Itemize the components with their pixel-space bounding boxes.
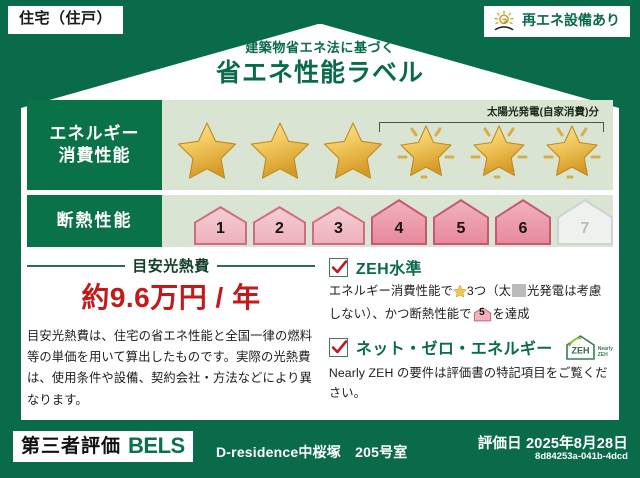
- zeh-standard-title: ZEH水準: [356, 255, 422, 279]
- zeh-logo-sub-line2: ZEH: [598, 352, 608, 358]
- sun-icon: [492, 10, 516, 32]
- svg-text:ZEH: ZEH: [571, 345, 589, 355]
- insulation-level-5: 5: [431, 195, 491, 247]
- inline-chip-label: 5: [473, 305, 492, 321]
- energy-performance-label: 住宅（住戸） 再エネ設備あり 建築物省エネ法に基づく 省エネ性: [0, 0, 640, 478]
- zeh-column: ZEH水準 エネルギー消費性能で3つ（太光発電は考慮しない）、かつ断熱性能で5を…: [321, 253, 613, 413]
- lower-section: 目安光熱費 約9.6万円 / 年 目安光熱費は、住宅の省エネ性能と全国一律の燃料…: [27, 253, 613, 413]
- insulation-performance-key: 断熱性能: [27, 195, 162, 247]
- energy-performance-row: エネルギー 消費性能 太陽光発電(自家消費)分: [27, 100, 613, 190]
- inline-star-icon: [453, 284, 467, 305]
- star-5-solar: [462, 114, 535, 186]
- utility-cost-title: 目安光熱費: [132, 255, 210, 276]
- insulation-performance-row: 断熱性能: [27, 195, 613, 247]
- star-4-solar: [389, 114, 462, 186]
- rule-left: [27, 265, 125, 267]
- energy-performance-value: 太陽光発電(自家消費)分: [162, 100, 613, 190]
- insulation-level-2-label: 2: [251, 220, 308, 238]
- net-zero-energy-body: Nearly ZEH の要件は評価書の特記項目をご覧ください。: [329, 364, 613, 404]
- energy-key-line1: エネルギー: [50, 123, 140, 145]
- zeh-standard-header: ZEH水準: [329, 255, 613, 279]
- inline-insulation-chip: 5: [473, 306, 492, 322]
- zeh-body-part1: エネルギー消費性能で: [329, 284, 453, 298]
- rule-right: [217, 265, 315, 267]
- insulation-level-3: 3: [310, 201, 367, 247]
- utility-cost-amount: 約9.6万円 / 年: [27, 282, 315, 314]
- zeh-logo-icon: ZEH Nearly ZEH: [565, 334, 613, 361]
- zeh-body-part2: 3つ（太: [467, 284, 511, 298]
- insulation-level-3-label: 3: [310, 220, 367, 238]
- energy-performance-key: エネルギー 消費性能: [27, 100, 162, 190]
- building-name: D-residence中桜塚 205号室: [216, 442, 408, 462]
- insulation-level-7: 7: [555, 195, 615, 247]
- zeh-standard-block: ZEH水準 エネルギー消費性能で3つ（太光発電は考慮しない）、かつ断熱性能で5を…: [329, 255, 613, 325]
- bels-badge: 第三者評価 BELS: [13, 431, 193, 462]
- star-1: [170, 114, 243, 186]
- insulation-level-4-label: 4: [369, 220, 429, 238]
- housing-type-badge: 住宅（住戸）: [8, 6, 123, 34]
- renewable-equipment-badge: 再エネ設備あり: [484, 6, 630, 37]
- star-rating: [170, 114, 608, 186]
- insulation-level-1: 1: [192, 201, 249, 247]
- net-zero-energy-block: ネット・ゼロ・エネルギー ZEH Nearly ZEH: [329, 334, 613, 404]
- insulation-level-scale: 1 2 3: [192, 195, 615, 247]
- energy-key-line2: 消費性能: [59, 145, 131, 167]
- title-main: 省エネ性能ラベル: [0, 57, 640, 90]
- utility-cost-header: 目安光熱費: [27, 255, 315, 276]
- utility-cost-note: 目安光熱費は、住宅の省エネ性能と全国一律の燃料等の単価を用いて算出したものです。…: [27, 326, 315, 411]
- insulation-level-6: 6: [493, 195, 553, 247]
- insulation-level-5-label: 5: [431, 220, 491, 238]
- star-6-solar: [535, 114, 608, 186]
- redacted-block: [512, 284, 526, 297]
- net-zero-energy-header: ネット・ゼロ・エネルギー ZEH Nearly ZEH: [329, 334, 613, 361]
- label-content: エネルギー 消費性能 太陽光発電(自家消費)分: [27, 100, 613, 413]
- zeh-body-part4: を達成: [493, 307, 530, 321]
- insulation-level-4: 4: [369, 195, 429, 247]
- star-2: [243, 114, 316, 186]
- evaluation-date: 評価日 2025年8月28日: [478, 432, 628, 453]
- insulation-level-6-label: 6: [493, 220, 553, 238]
- zeh-standard-checkbox[interactable]: [329, 258, 348, 277]
- insulation-performance-value: 1 2 3: [162, 195, 613, 247]
- evaluation-id: 8d84253a-041b-4dcd: [535, 451, 628, 462]
- insulation-level-1-label: 1: [192, 220, 249, 238]
- bels-en-label: BELS: [128, 435, 185, 457]
- star-3: [316, 114, 389, 186]
- title-subtitle: 建築物省エネ法に基づく: [0, 40, 640, 56]
- insulation-level-2: 2: [251, 201, 308, 247]
- insulation-level-7-label: 7: [555, 220, 615, 238]
- label-title: 建築物省エネ法に基づく 省エネ性能ラベル: [0, 40, 640, 89]
- renewable-badge-label: 再エネ設備あり: [522, 13, 620, 28]
- footer-bar: 第三者評価 BELS D-residence中桜塚 205号室 評価日 2025…: [0, 420, 640, 478]
- net-zero-energy-checkbox[interactable]: [329, 338, 348, 357]
- bels-jp-label: 第三者評価: [21, 437, 121, 456]
- utility-cost-column: 目安光熱費 約9.6万円 / 年 目安光熱費は、住宅の省エネ性能と全国一律の燃料…: [27, 253, 321, 413]
- net-zero-energy-title: ネット・ゼロ・エネルギー: [356, 335, 553, 359]
- zeh-standard-body: エネルギー消費性能で3つ（太光発電は考慮しない）、かつ断熱性能で5を達成: [329, 282, 613, 325]
- zeh-logo-sublabel: Nearly ZEH: [598, 347, 613, 361]
